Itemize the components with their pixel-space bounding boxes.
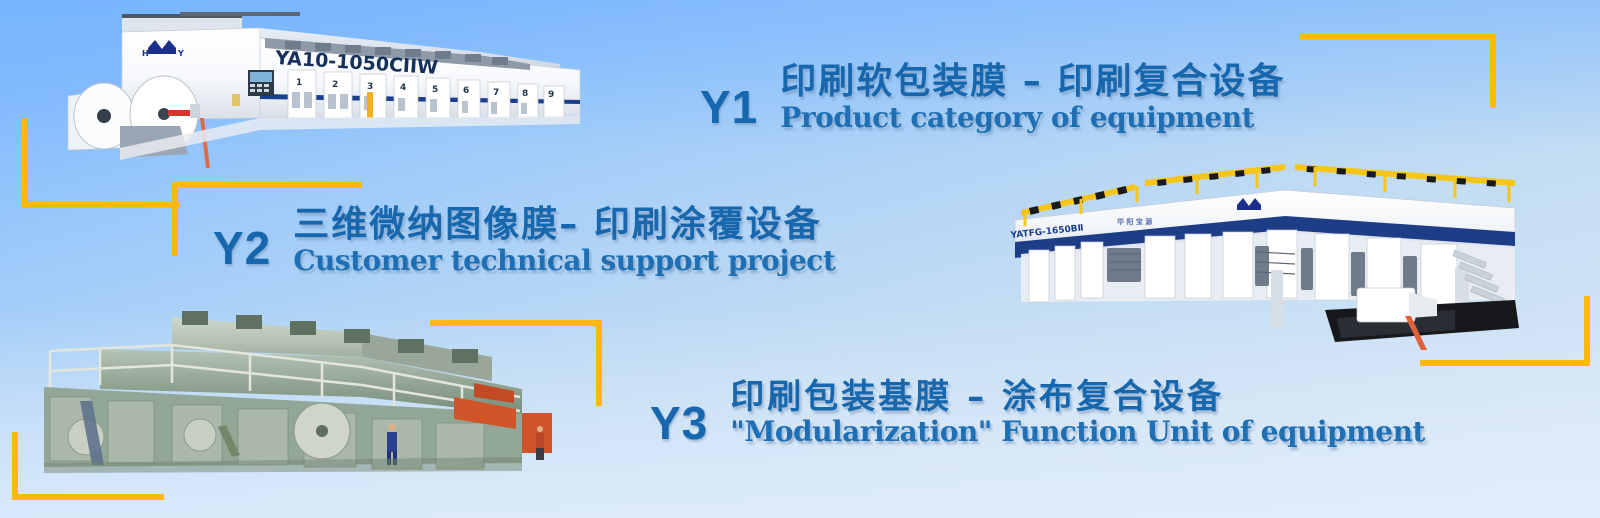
svg-text:6: 6 (463, 86, 469, 96)
english-subtitle-y2: Customer technical support project (293, 246, 835, 277)
machine-photo-rotogravure-printing-press: 1 2 3 4 5 6 7 8 9 (60, 8, 605, 178)
svg-text:9: 9 (548, 90, 554, 100)
svg-text:5: 5 (432, 85, 438, 95)
chinese-title-y1: 印刷软包装膜 – 印刷复合设备 (780, 62, 1285, 102)
machine-photo-base-film-coating-line (22, 305, 582, 485)
text-lines-y2: 三维微纳图像膜– 印刷涂覆设备 Customer technical suppo… (293, 205, 835, 277)
svg-text:华 阳 宝 源: 华 阳 宝 源 (1117, 217, 1152, 226)
chinese-title-y3: 印刷包装基膜 – 涂布复合设备 (730, 378, 1425, 416)
code-label-y2: Y2 (213, 225, 271, 271)
text-lines-y3: 印刷包装基膜 – 涂布复合设备 "Modularization" Functio… (730, 378, 1425, 448)
chinese-title-y2: 三维微纳图像膜– 印刷涂覆设备 (293, 205, 835, 245)
svg-text:1: 1 (296, 78, 302, 88)
text-group-y1: Y1 印刷软包装膜 – 印刷复合设备 Product category of e… (700, 62, 1285, 134)
text-group-y2: Y2 三维微纳图像膜– 印刷涂覆设备 Customer technical su… (213, 205, 835, 277)
svg-text:2: 2 (332, 80, 338, 90)
code-label-y1: Y1 (700, 84, 758, 130)
svg-text:Y: Y (177, 49, 184, 58)
code-label-y3: Y3 (650, 400, 708, 446)
machine-photo-coating-laminating-machine: 华 阳 宝 源 YATFG-1650BⅡ (985, 150, 1530, 355)
promo-banner: 1 2 3 4 5 6 7 8 9 (0, 0, 1600, 518)
svg-text:H: H (142, 49, 149, 58)
english-subtitle-y1: Product category of equipment (780, 103, 1285, 134)
text-group-y3: Y3 印刷包装基膜 – 涂布复合设备 "Modularization" Func… (650, 378, 1425, 448)
text-lines-y1: 印刷软包装膜 – 印刷复合设备 Product category of equi… (780, 62, 1285, 134)
svg-text:7: 7 (493, 88, 499, 98)
english-subtitle-y3: "Modularization" Function Unit of equipm… (730, 417, 1425, 448)
svg-text:3: 3 (367, 82, 373, 92)
svg-text:8: 8 (522, 89, 528, 99)
bracket-top-right (1300, 34, 1500, 114)
svg-text:4: 4 (400, 83, 406, 93)
